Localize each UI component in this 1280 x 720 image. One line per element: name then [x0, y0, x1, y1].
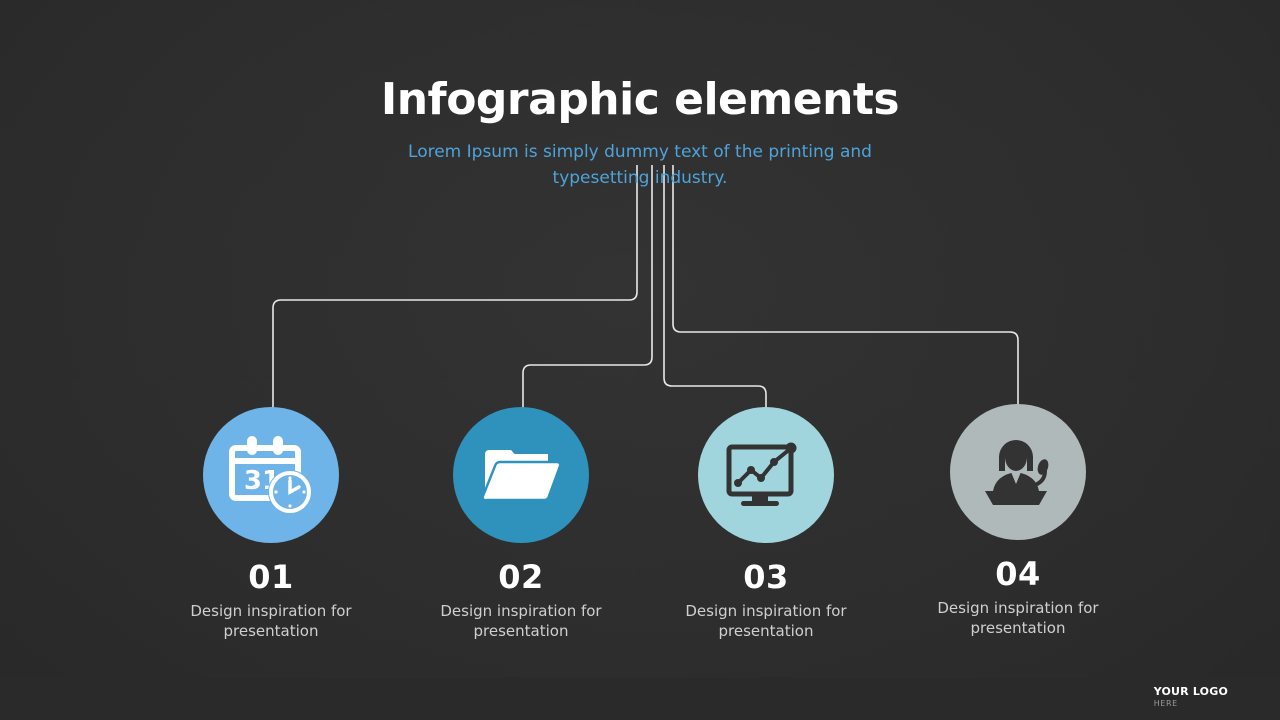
node-number-04: 04 — [903, 558, 1133, 590]
node-description-02: Design inspiration for presentation — [406, 601, 636, 642]
node-description-04: Design inspiration for presentation — [903, 598, 1133, 639]
node-circle-03[interactable] — [698, 407, 834, 543]
node-circle-01[interactable]: 31 — [203, 407, 339, 543]
node-item-02[interactable]: 02 Design inspiration for presentation — [406, 407, 636, 642]
logo-secondary-text: HERE — [1154, 699, 1228, 708]
footer-bar — [0, 678, 1280, 720]
node-item-04[interactable]: 04 Design inspiration for presentation — [903, 404, 1133, 639]
monitor-line-chart-icon — [724, 437, 808, 513]
page-subtitle: Lorem Ipsum is simply dummy text of the … — [405, 140, 875, 191]
node-description-03: Design inspiration for presentation — [651, 601, 881, 642]
open-folder-icon — [481, 442, 561, 508]
speaker-podium-icon — [977, 435, 1059, 509]
slide-header: Infographic elements Lorem Ipsum is simp… — [0, 78, 1280, 191]
node-item-03[interactable]: 03 Design inspiration for presentation — [651, 407, 881, 642]
node-number-01: 01 — [156, 561, 386, 593]
slide-canvas: Infographic elements Lorem Ipsum is simp… — [0, 0, 1280, 720]
logo-primary-text: YOUR LOGO — [1154, 686, 1228, 699]
page-title: Infographic elements — [0, 78, 1280, 122]
node-number-02: 02 — [406, 561, 636, 593]
logo-placeholder: YOUR LOGO HERE — [1154, 686, 1228, 708]
node-item-01[interactable]: 31 01 Design inspiration for presentatio… — [156, 407, 386, 642]
node-circle-02[interactable] — [453, 407, 589, 543]
calendar-clock-icon: 31 — [228, 434, 314, 516]
node-description-01: Design inspiration for presentation — [156, 601, 386, 642]
node-number-03: 03 — [651, 561, 881, 593]
node-circle-04[interactable] — [950, 404, 1086, 540]
